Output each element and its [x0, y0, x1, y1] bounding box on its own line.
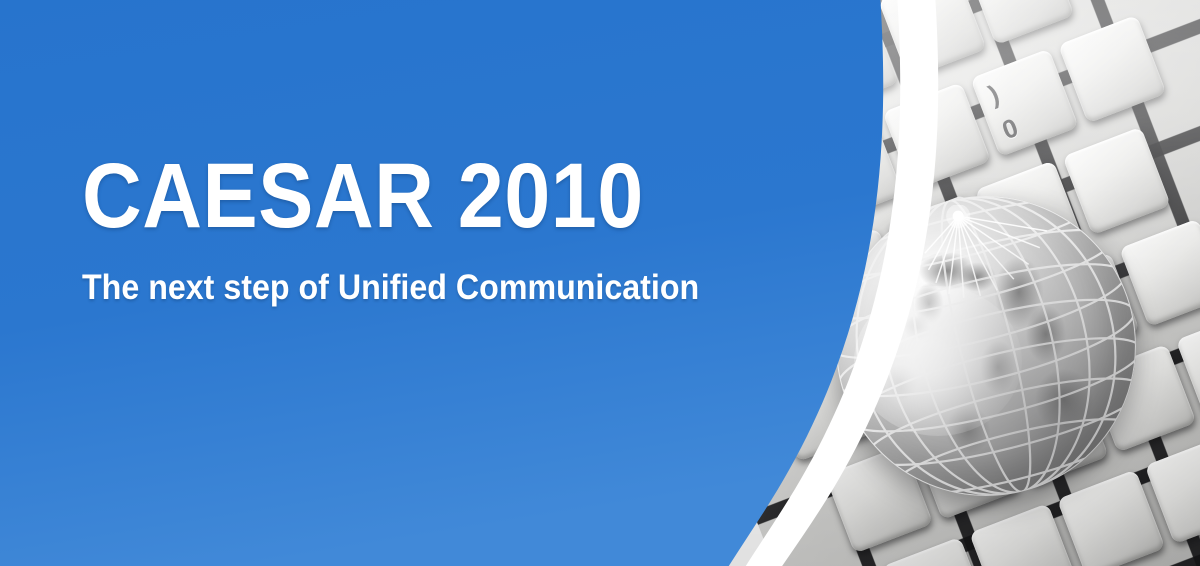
keyboard-key-9-digit: 9: [911, 148, 934, 177]
keyboard-key-blank-c: [1058, 15, 1167, 124]
keyboard-key-f7-label: F7: [717, 66, 742, 89]
page-subtitle: The next step of Unified Communication: [82, 270, 744, 305]
globe-wireframe: [836, 196, 1136, 496]
keyboard-key-f7: F7: [703, 38, 812, 147]
keyboard-key-f8: F8: [790, 4, 899, 113]
globe-sphere: [836, 196, 1136, 496]
brightness-up-icon: [824, 55, 877, 95]
globe-graphic: [836, 196, 1136, 496]
keyboard-key-9: ( 9: [883, 82, 992, 191]
brightness-down-icon: [737, 89, 790, 129]
page-title: CAESAR 2010: [82, 150, 730, 242]
banner-copy: CAESAR 2010 The next step of Unified Com…: [82, 150, 802, 305]
keyboard-key-0-digit: 0: [999, 114, 1022, 143]
keyboard-key-8-symbol: *: [810, 147, 829, 175]
keyboard-key-minus: [878, 0, 987, 79]
keyboard-key-f8-label: F8: [805, 32, 830, 55]
keyboard-key-0: ) 0: [970, 49, 1079, 158]
caesar-2010-banner: F7 F8 & 7 * 8 ( 9: [0, 0, 1200, 566]
keyboard-key-0-symbol: ): [985, 81, 1002, 108]
keyboard-key-9-symbol: (: [897, 114, 914, 141]
